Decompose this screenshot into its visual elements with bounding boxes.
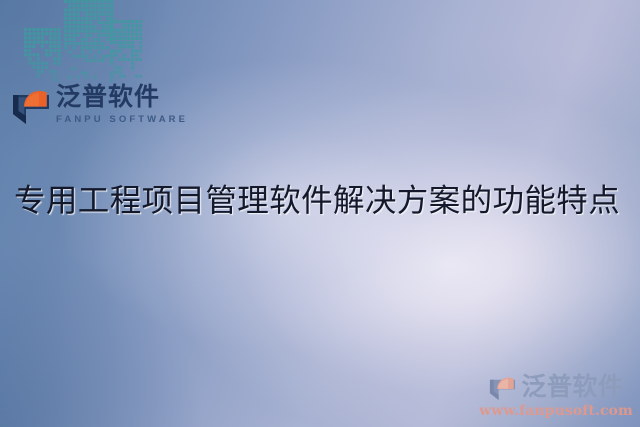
banner-canvas: 泛普软件 FANPU SOFTWARE 专用工程项目管理软件解决方案的功能特点 … — [0, 0, 640, 427]
brand-logo: 泛普软件 FANPU SOFTWARE — [12, 84, 188, 125]
watermark: 泛普软件 www.fanpusoft.com — [480, 372, 632, 419]
brand-name-en: FANPU SOFTWARE — [56, 114, 188, 125]
fanpu-watermark-logo-icon — [488, 372, 517, 401]
fanpu-logo-icon — [12, 85, 50, 125]
pixel-mosaic-decoration-icon — [22, 0, 142, 84]
page-title: 专用工程项目管理软件解决方案的功能特点 — [14, 181, 632, 221]
watermark-name-cn: 泛普软件 — [521, 374, 623, 399]
watermark-url: www.fanpusoft.com — [479, 403, 633, 419]
watermark-logo-row: 泛普软件 — [488, 372, 623, 401]
brand-name-cn: 泛普软件 — [56, 84, 188, 110]
brand-text-block: 泛普软件 FANPU SOFTWARE — [56, 84, 188, 125]
